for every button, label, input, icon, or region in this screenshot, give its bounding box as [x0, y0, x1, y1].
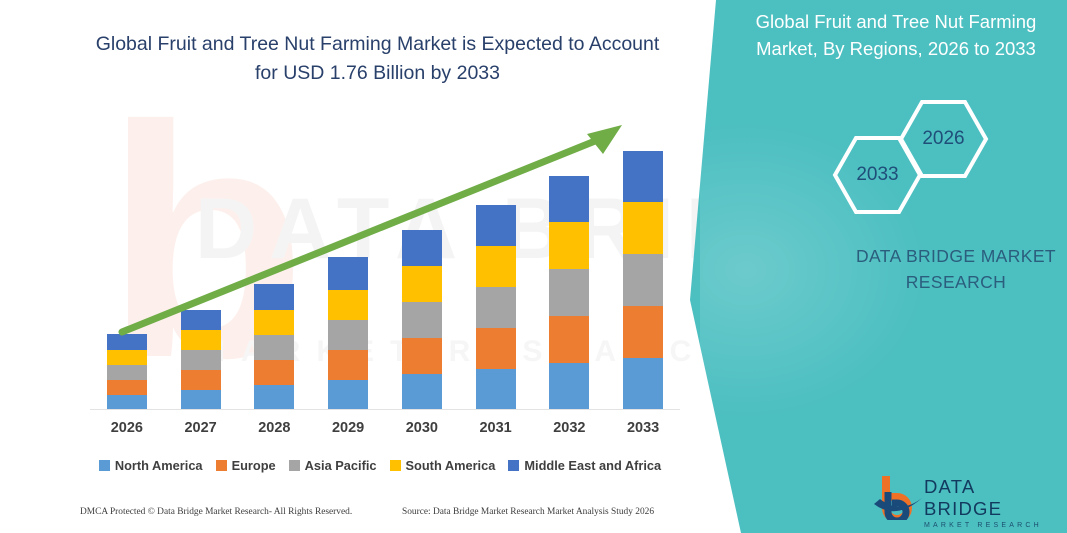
- chart-legend: North AmericaEuropeAsia PacificSouth Ame…: [85, 455, 675, 475]
- logo-text-block: DATA BRIDGE MARKET RESEARCH: [924, 476, 1047, 529]
- bar-segment: [476, 246, 516, 287]
- data-bridge-logo: DATA BRIDGE MARKET RESEARCH: [872, 474, 1047, 520]
- bar-segment: [254, 385, 294, 410]
- x-axis-label-2031: 2031: [466, 420, 526, 436]
- x-axis-label-2032: 2032: [539, 420, 599, 436]
- bar-segment: [476, 287, 516, 328]
- footer: DMCA Protected © Data Bridge Market Rese…: [0, 505, 700, 525]
- bar-segment: [254, 284, 294, 310]
- panel-brand-name: DATA BRIDGE MARKET RESEARCH: [796, 243, 1067, 295]
- bar-segment: [476, 205, 516, 246]
- panel-title-line-2: Market, By Regions, 2026 to 2033: [736, 35, 1056, 62]
- x-axis-label-2028: 2028: [244, 420, 304, 436]
- legend-item-asia-pacific: Asia Pacific: [289, 458, 377, 473]
- bar-segment: [254, 360, 294, 385]
- bar-segment: [402, 374, 442, 410]
- bar-segment: [107, 365, 147, 380]
- bar-segment: [623, 202, 663, 254]
- bar-segment: [623, 358, 663, 410]
- stacked-bar-plot: [90, 120, 680, 410]
- x-axis-label-2029: 2029: [318, 420, 378, 436]
- bar-segment: [549, 222, 589, 269]
- panel-title-line-1: Global Fruit and Tree Nut Farming: [736, 8, 1056, 35]
- bar-segment: [328, 257, 368, 290]
- bar-segment: [107, 380, 147, 395]
- legend-item-europe: Europe: [216, 458, 276, 473]
- bar-segment: [254, 335, 294, 360]
- bar-2026: [107, 334, 147, 410]
- chart-title-line-2: for USD 1.76 Billion by 2033: [85, 59, 670, 88]
- bar-segment: [549, 269, 589, 316]
- bar-segment: [254, 310, 294, 335]
- bar-segment: [623, 151, 663, 202]
- bar-segment: [181, 370, 221, 390]
- bar-segment: [181, 350, 221, 370]
- hexagon-badge-2026-label: 2026: [922, 128, 964, 150]
- bar-segment: [476, 328, 516, 369]
- panel-brand-line-2: RESEARCH: [796, 269, 1067, 295]
- legend-item-south-america: South America: [390, 458, 496, 473]
- legend-item-middle-east-and-africa: Middle East and Africa: [508, 458, 661, 473]
- bar-segment: [549, 363, 589, 410]
- chart-title: Global Fruit and Tree Nut Farming Market…: [85, 30, 670, 88]
- x-axis-label-2033: 2033: [613, 420, 673, 436]
- legend-swatch-icon: [99, 460, 110, 471]
- bar-segment: [107, 350, 147, 365]
- legend-swatch-icon: [390, 460, 401, 471]
- bar-segment: [328, 290, 368, 320]
- legend-swatch-icon: [508, 460, 519, 471]
- bar-segment: [181, 310, 221, 330]
- bar-segment: [328, 320, 368, 350]
- chart-title-line-1: Global Fruit and Tree Nut Farming Market…: [85, 30, 670, 59]
- bar-2031: [476, 205, 516, 410]
- legend-swatch-icon: [216, 460, 227, 471]
- bar-segment: [181, 330, 221, 350]
- bar-2033: [623, 151, 663, 410]
- bar-2027: [181, 310, 221, 410]
- logo-name: DATA BRIDGE: [924, 476, 1047, 520]
- bar-segment: [402, 302, 442, 338]
- bar-segment: [402, 338, 442, 374]
- x-axis-tick-labels: 20262027202820292030203120322033: [90, 420, 680, 442]
- x-axis-label-2026: 2026: [97, 420, 157, 436]
- logo-tagline: MARKET RESEARCH: [924, 522, 1047, 529]
- panel-brand-line-1: DATA BRIDGE MARKET: [796, 243, 1067, 269]
- panel-title: Global Fruit and Tree Nut Farming Market…: [736, 8, 1056, 62]
- bar-segment: [328, 380, 368, 410]
- x-axis-label-2030: 2030: [392, 420, 452, 436]
- infographic-root: b DATA BRIDGE MARKET RESEARCH Global Fru…: [0, 0, 1067, 533]
- bar-segment: [623, 306, 663, 358]
- bar-2028: [254, 284, 294, 410]
- bar-segment: [402, 230, 442, 266]
- bar-segment: [328, 350, 368, 380]
- legend-label: North America: [115, 458, 203, 473]
- hexagon-badge-2026: 2026: [897, 98, 990, 180]
- legend-label: South America: [406, 458, 496, 473]
- legend-item-north-america: North America: [99, 458, 203, 473]
- legend-label: Asia Pacific: [305, 458, 377, 473]
- bar-segment: [623, 254, 663, 306]
- legend-swatch-icon: [289, 460, 300, 471]
- bar-2030: [402, 230, 442, 410]
- bar-segment: [402, 266, 442, 302]
- bar-segment: [549, 316, 589, 363]
- bar-segment: [549, 176, 589, 222]
- bar-segment: [107, 395, 147, 410]
- x-axis-line: [90, 409, 680, 410]
- bar-segment: [476, 369, 516, 410]
- footer-copyright: DMCA Protected © Data Bridge Market Rese…: [80, 507, 352, 517]
- bar-2029: [328, 257, 368, 410]
- footer-source: Source: Data Bridge Market Research Mark…: [402, 507, 654, 517]
- legend-label: Middle East and Africa: [524, 458, 661, 473]
- bar-2032: [549, 176, 589, 410]
- x-axis-label-2027: 2027: [171, 420, 231, 436]
- logo-mark-icon: [872, 474, 924, 520]
- hexagon-badge-2033-label: 2033: [856, 164, 898, 186]
- bar-segment: [107, 334, 147, 350]
- legend-label: Europe: [232, 458, 276, 473]
- bar-segment: [181, 390, 221, 410]
